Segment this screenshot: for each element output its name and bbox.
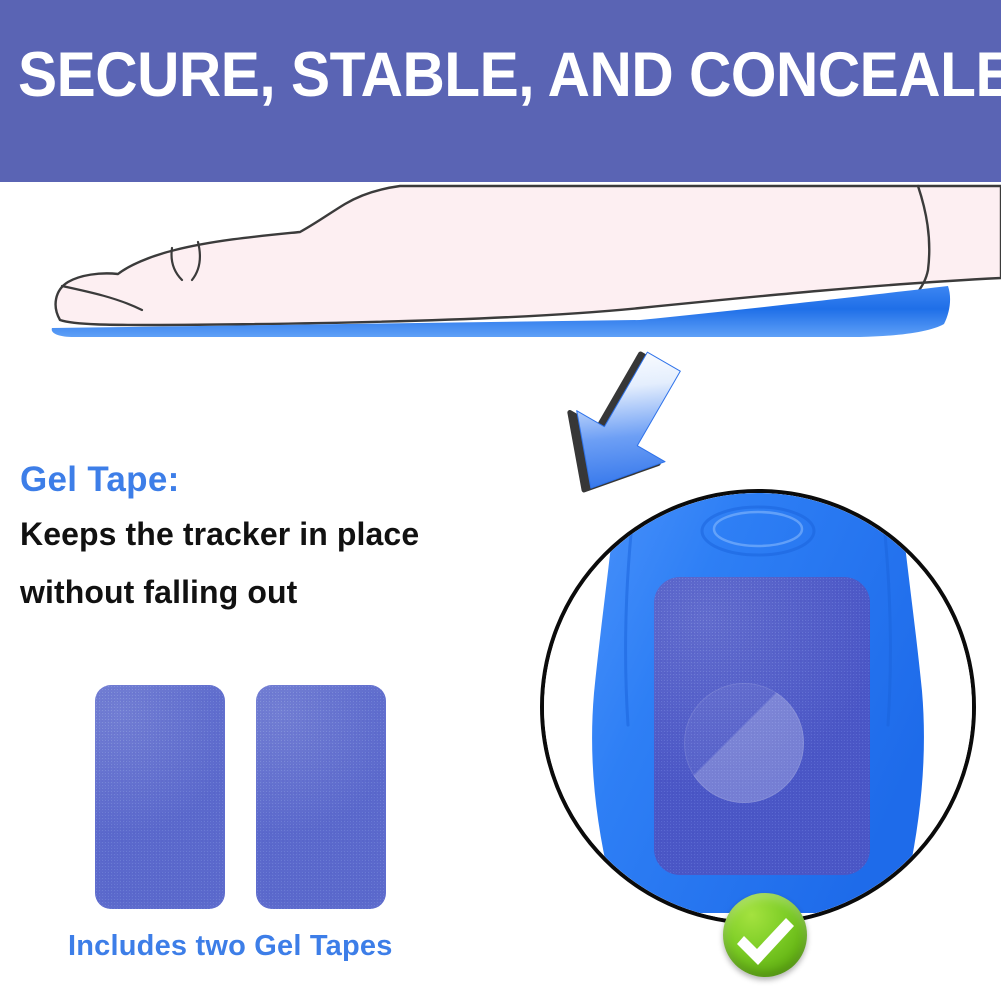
check-mark-icon [737, 918, 794, 965]
magnified-detail-circle [540, 489, 976, 925]
feature-heading: Gel Tape: [20, 460, 180, 500]
gel-tape-caption: Includes two Gel Tapes [68, 930, 393, 963]
green-check-badge [723, 893, 807, 977]
down-right-arrow-icon [545, 345, 705, 510]
tracker-disc [684, 683, 804, 803]
gel-tape-swatch-1 [95, 685, 225, 909]
feature-body-line-1: Keeps the tracker in place [20, 516, 419, 553]
header-banner: SECURE, STABLE, AND CONCEALE [0, 0, 1001, 182]
infographic-canvas: SECURE, STABLE, AND CONCEALE [0, 0, 1001, 1001]
foot-illustration [0, 180, 1001, 355]
gel-tape-swatch-2 [256, 685, 386, 909]
feature-body-line-2: without falling out [20, 574, 297, 611]
page-title: SECURE, STABLE, AND CONCEALE [18, 44, 1001, 107]
